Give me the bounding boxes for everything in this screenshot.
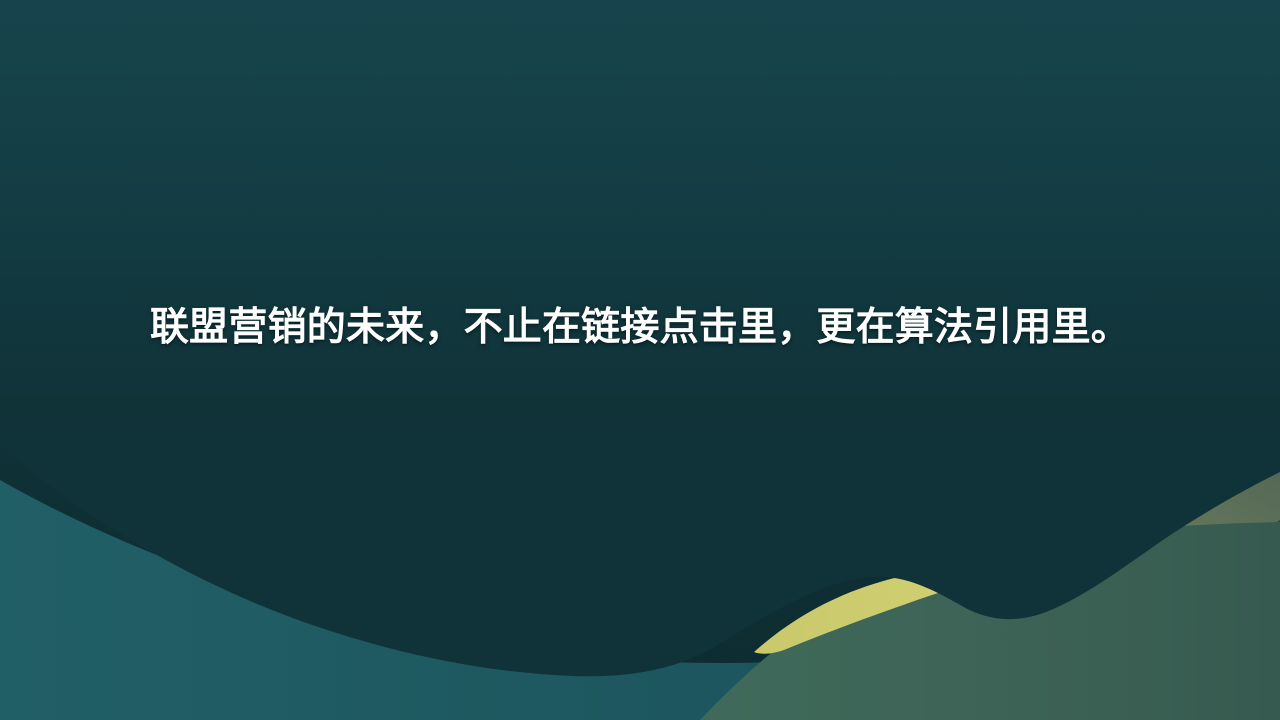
slide-headline: 联盟营销的未来，不止在链接点击里，更在算法引用里。 [150, 302, 1130, 355]
slide-canvas: 联盟营销的未来，不止在链接点击里，更在算法引用里。 [0, 0, 1280, 720]
headline-container: 联盟营销的未来，不止在链接点击里，更在算法引用里。 [0, 0, 1280, 720]
